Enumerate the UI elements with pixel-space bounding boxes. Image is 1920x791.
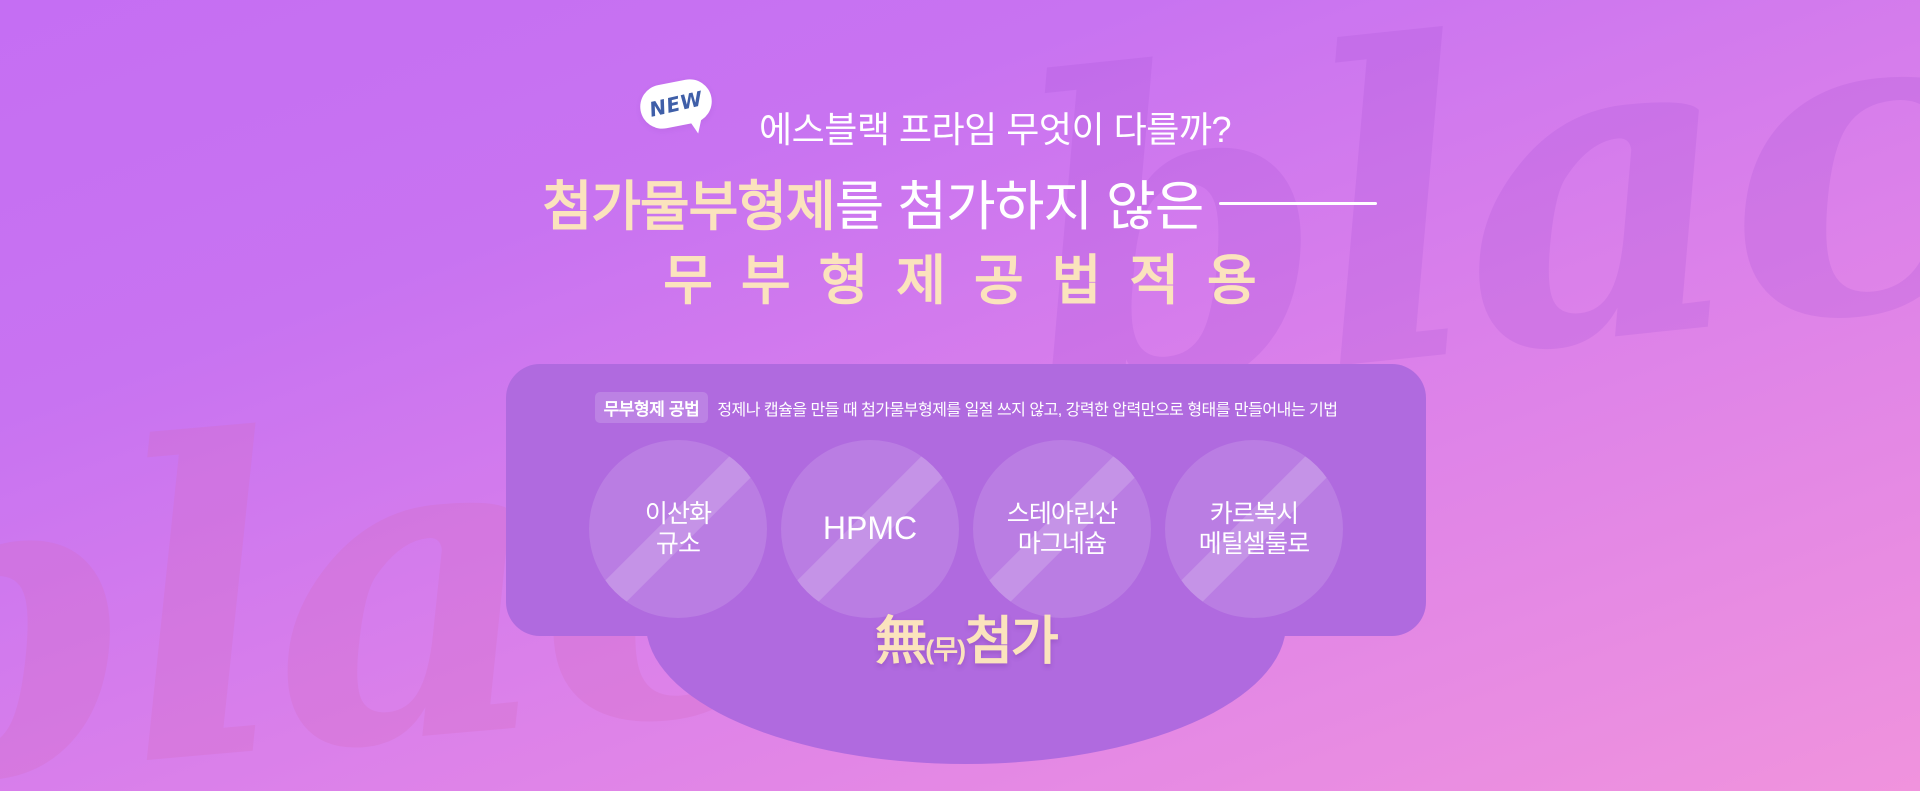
ingredient-label: 스테아린산 마그네슘 — [1007, 499, 1118, 560]
ingredient-label: HPMC — [823, 509, 917, 548]
excluded-ingredient-list: 이산화 규소 HPMC 스테아린산 마그네슘 카르복시 메틸셀룰로 — [506, 440, 1426, 618]
headline-accent-text: 첨가물부형제 — [543, 177, 835, 237]
ingredient-label: 카르복시 메틸셀룰로 — [1199, 499, 1310, 560]
headline-rest-text: 를 첨가하지 않은 — [835, 177, 1204, 237]
no-additive-badge-text: 無(무)첨가 — [875, 616, 1057, 668]
list-item: 이산화 규소 — [589, 440, 767, 618]
list-item: 스테아린산 마그네슘 — [973, 440, 1151, 618]
no-additive-kanji: 無 — [875, 613, 925, 671]
list-item: 카르복시 메틸셀룰로 — [1165, 440, 1343, 618]
headline-rule — [1219, 202, 1377, 205]
headline-line-2: 무부형제공법적용 — [0, 246, 1920, 316]
no-additive-reading: (무) — [925, 635, 965, 665]
page-subtitle: 에스블랙 프라임 무엇이 다를까? — [0, 108, 1920, 151]
card-caption-text: 정제나 캡슐을 만들 때 첨가물부형제를 일절 쓰지 않고, 강력한 압력만으로… — [717, 396, 1337, 420]
headline-group: 에스블랙 프라임 무엇이 다를까? 첨가물부형제를 첨가하지 않은 무부형제공법… — [0, 108, 1920, 316]
card-caption-tag: 무부형제 공법 — [595, 392, 709, 423]
new-badge-label: NEW — [647, 86, 705, 122]
headline-line-1: 첨가물부형제를 첨가하지 않은 — [0, 173, 1920, 242]
ingredient-label: 이산화 규소 — [645, 499, 711, 560]
no-additive-tail: 첨가 — [965, 613, 1057, 671]
promo-banner: black black NEW 에스블랙 프라임 무엇이 다를까? 첨가물부형제… — [0, 0, 1920, 791]
method-card: 무부형제 공법정제나 캡슐을 만들 때 첨가물부형제를 일절 쓰지 않고, 강력… — [506, 364, 1426, 636]
no-additive-badge: 無(무)첨가 — [506, 616, 1426, 668]
card-caption: 무부형제 공법정제나 캡슐을 만들 때 첨가물부형제를 일절 쓰지 않고, 강력… — [506, 392, 1426, 423]
list-item: HPMC — [781, 440, 959, 618]
